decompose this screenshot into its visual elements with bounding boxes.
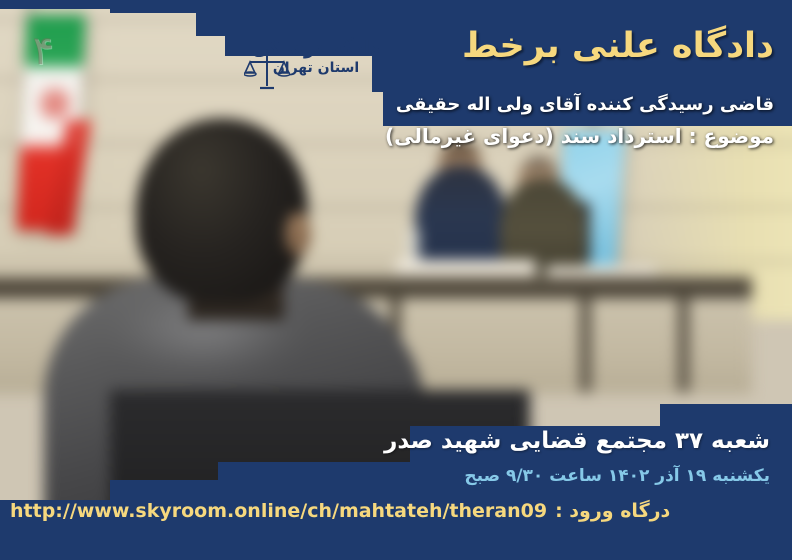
- foreground-person-ear: [285, 212, 311, 256]
- entry-gateway-row: درگاه ورود : http://www.skyroom.online/c…: [10, 500, 770, 522]
- session-datetime: یکشنبه ۱۹ آذر ۱۴۰۲ ساعت ۹/۳۰ صبح: [210, 466, 770, 486]
- iran-flag-emblem: [38, 85, 72, 123]
- page-title: دادگاه علنی برخط: [254, 26, 774, 66]
- branch-line: شعبه ۳۷ مجتمع قضایی شهید صدر: [210, 428, 770, 454]
- judge-line: قاضی رسیدگی کننده آقای ولی اله حقیقی: [254, 94, 774, 115]
- entry-gateway-url[interactable]: http://www.skyroom.online/ch/mahtateh/th…: [10, 500, 547, 522]
- topic-line: موضوع : استرداد سند (دعوای غیرمالی): [214, 124, 774, 148]
- corner-watermark-glyph: ۴: [14, 22, 72, 80]
- bench-leg: [580, 298, 591, 392]
- wall-panel-line: [0, 206, 792, 210]
- court-session-poster: ۴ دادگستری کل استان تهران دادگاه علنی بر…: [0, 0, 792, 560]
- bench-leg: [678, 298, 689, 392]
- entry-gateway-label: درگاه ورود :: [555, 500, 670, 522]
